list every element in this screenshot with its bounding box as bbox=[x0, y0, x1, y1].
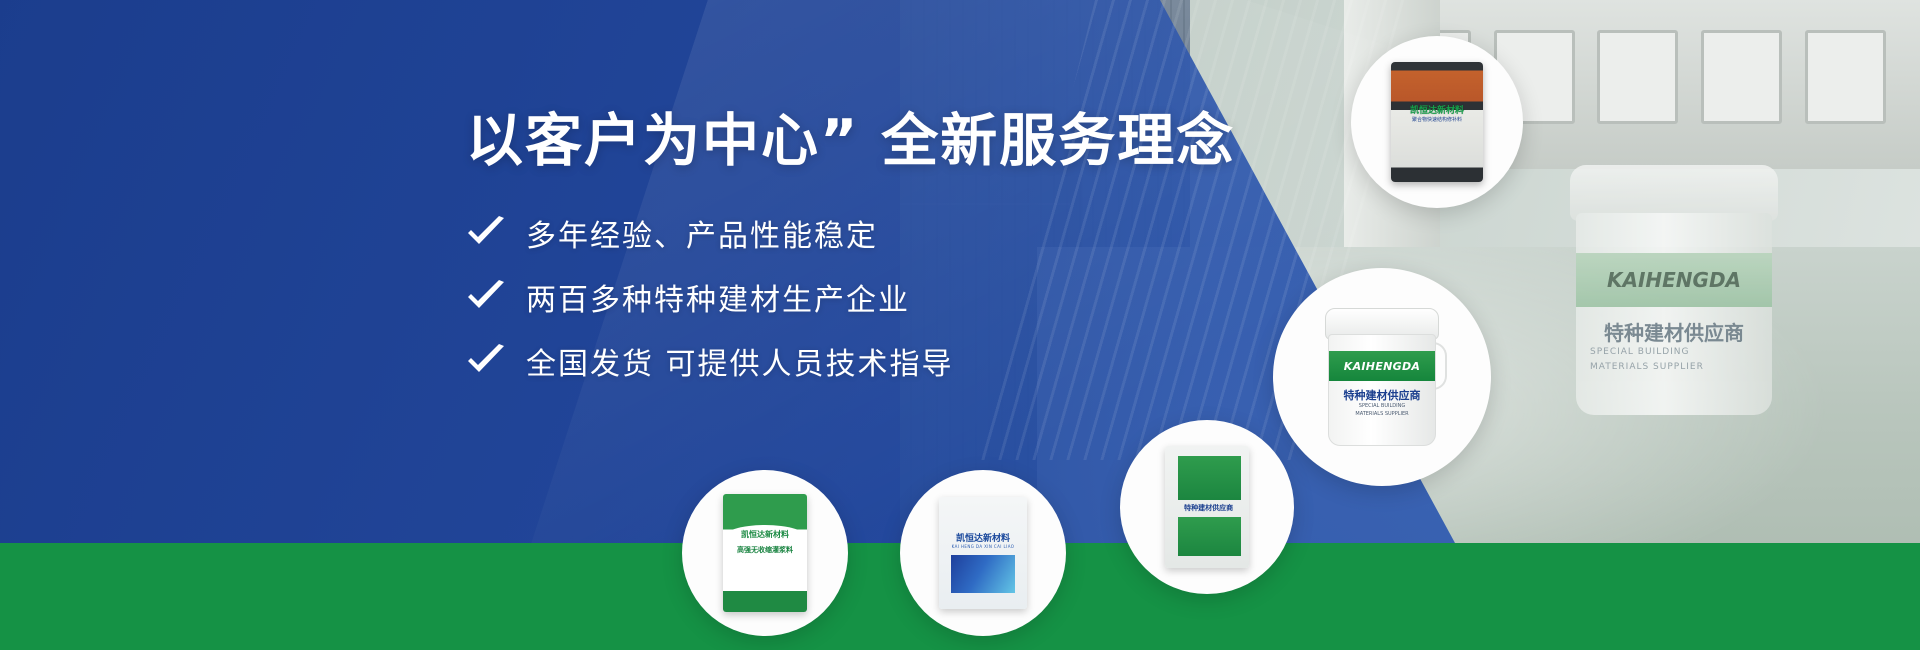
check-icon bbox=[466, 216, 506, 250]
bucket-brand-text: KAIHENGDA bbox=[1607, 268, 1741, 292]
kaihengda-large-bucket: KAIHENGDA 特种建材供应商 SPECIAL BUILDING MATER… bbox=[1560, 165, 1788, 415]
bucket-title-en: SPECIAL BUILDING MATERIALS SUPPLIER bbox=[1590, 345, 1758, 376]
bucket-brand-band: KAIHENGDA bbox=[1329, 351, 1435, 381]
bag-brand-cn: 凯恒达新材料 bbox=[1398, 103, 1475, 116]
bag-brand-pinyin: KAI HENG DA XIN CAI LIAO bbox=[939, 544, 1027, 549]
bag-brand-cn: 凯恒达新材料 bbox=[723, 529, 807, 540]
special-building-materials-bag: 特种建材供应商 bbox=[1165, 446, 1249, 568]
bag-top-panel bbox=[1178, 456, 1240, 500]
banner-headline: 以客户为中心” 全新服务理念 bbox=[466, 95, 1235, 177]
benefit-text: 多年经验、产品性能稳定 bbox=[526, 211, 878, 255]
bucket-body: KAIHENGDA 特种建材供应商 SPECIAL BUILDING MATER… bbox=[1576, 213, 1772, 415]
bucket-title-en-line1: SPECIAL BUILDING bbox=[1590, 345, 1758, 360]
product-circle-grout-bag: 凯恒达新材料 高强无收缩灌浆料 bbox=[682, 470, 848, 636]
product-circle-bucket: KAIHENGDA 特种建材供应商 SPECIAL BUILDING MATER… bbox=[1273, 268, 1491, 486]
product-circle-white-bag: 凯恒达新材料 KAI HENG DA XIN CAI LIAO bbox=[900, 470, 1066, 636]
machine-unit bbox=[1701, 30, 1782, 124]
benefit-text: 两百多种特种建材生产企业 bbox=[526, 275, 910, 319]
bag-product-cn: 高强无收缩灌浆料 bbox=[723, 545, 807, 555]
machine-unit bbox=[1805, 30, 1886, 124]
hero-banner: KAIHENGDA 特种建材供应商 SPECIAL BUILDING MATER… bbox=[0, 0, 1920, 650]
benefit-item: 全国发货 可提供人员技术指导 bbox=[466, 333, 954, 389]
banner-content: 以客户为中心” 全新服务理念 多年经验、产品性能稳定 两百多种特种建材生产企业 bbox=[0, 0, 1200, 543]
check-icon bbox=[466, 344, 506, 378]
bag-bottom-panel bbox=[1178, 517, 1240, 556]
check-icon bbox=[466, 280, 506, 314]
bucket-body: KAIHENGDA 特种建材供应商 SPECIAL BUILDING MATER… bbox=[1328, 334, 1436, 446]
kaihengda-white-bag: 凯恒达新材料 KAI HENG DA XIN CAI LIAO bbox=[939, 497, 1027, 609]
benefit-item: 两百多种特种建材生产企业 bbox=[466, 269, 954, 325]
benefit-list: 多年经验、产品性能稳定 两百多种特种建材生产企业 全国发货 可提供人员技术指导 bbox=[466, 205, 954, 397]
benefit-text: 全国发货 可提供人员技术指导 bbox=[526, 339, 954, 383]
bucket-title-en-line2: MATERIALS SUPPLIER bbox=[1590, 360, 1758, 375]
bucket-brand-text: KAIHENGDA bbox=[1344, 360, 1420, 373]
bucket-brand-band: KAIHENGDA bbox=[1576, 253, 1772, 307]
product-circle-orange-bag: 凯恒达新材料 聚合物快速结构修补料 bbox=[1351, 36, 1523, 208]
kaihengda-bucket: KAIHENGDA 特种建材供应商 SPECIAL BUILDING MATER… bbox=[1321, 308, 1443, 446]
bucket-title-en-line2: MATERIALS SUPPLIER bbox=[1329, 411, 1435, 419]
bag-artwork bbox=[951, 555, 1014, 593]
bucket-title-cn: 特种建材供应商 bbox=[1576, 317, 1772, 346]
bag-title-cn: 特种建材供应商 bbox=[1173, 503, 1244, 513]
product-circle-supplier-bag: 特种建材供应商 bbox=[1120, 420, 1294, 594]
bucket-title-en-line1: SPECIAL BUILDING bbox=[1329, 403, 1435, 411]
machine-unit bbox=[1597, 30, 1678, 124]
bucket-title-cn: 特种建材供应商 bbox=[1329, 387, 1435, 403]
benefit-item: 多年经验、产品性能稳定 bbox=[466, 205, 954, 261]
polymer-rapid-repair-mortar-bag: 凯恒达新材料 聚合物快速结构修补料 bbox=[1391, 62, 1483, 182]
high-strength-grout-bag: 凯恒达新材料 高强无收缩灌浆料 bbox=[723, 494, 807, 612]
bag-subtitle-cn: 聚合物快速结构修补料 bbox=[1397, 116, 1478, 123]
bag-brand-cn: 凯恒达新材料 bbox=[939, 531, 1027, 544]
bucket-title-en: SPECIAL BUILDING MATERIALS SUPPLIER bbox=[1329, 403, 1435, 418]
